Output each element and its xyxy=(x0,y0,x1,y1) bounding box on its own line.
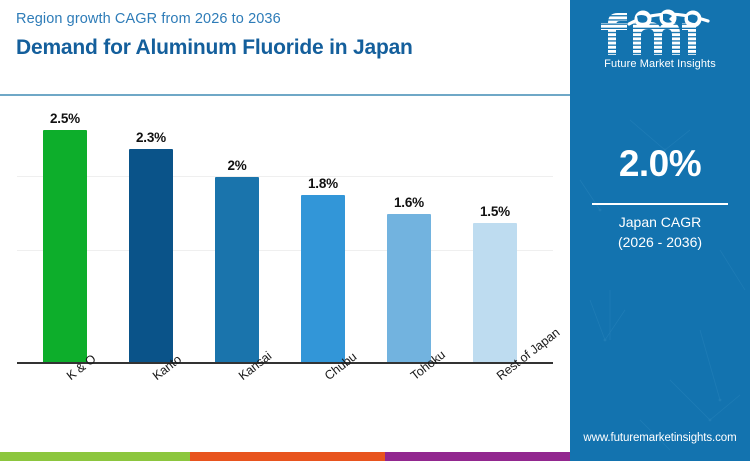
bar-group: 2.5% xyxy=(22,102,108,363)
stat-divider xyxy=(592,203,728,205)
x-axis-label: Kanto xyxy=(108,366,194,446)
bar[interactable] xyxy=(43,130,87,363)
bar[interactable] xyxy=(301,195,345,363)
bar-value-label: 2.3% xyxy=(108,130,194,145)
x-axis-label: Kansai xyxy=(194,366,280,446)
bar-value-label: 1.5% xyxy=(452,204,538,219)
x-axis-label: Rest of Japan xyxy=(452,366,538,446)
chart-subtitle: Region growth CAGR from 2026 to 2036 xyxy=(16,11,281,27)
bar-value-label: 1.6% xyxy=(366,195,452,210)
bar[interactable] xyxy=(215,177,259,363)
bar-value-label: 2% xyxy=(194,158,280,173)
website-url: www.futuremarketinsights.com xyxy=(570,432,750,444)
cagr-label: Japan CAGR xyxy=(570,214,750,230)
infographic-root: Region growth CAGR from 2026 to 2036 Dem… xyxy=(0,0,750,461)
fmi-logo-icon xyxy=(596,8,726,56)
bar-group: 1.8% xyxy=(280,102,366,363)
bar[interactable] xyxy=(387,214,431,363)
color-bar-segment xyxy=(385,452,600,461)
cagr-value: 2.0% xyxy=(570,143,750,185)
x-axis-labels: K & OKantoKansaiChubuTohokuRest of Japan xyxy=(0,366,570,446)
x-axis-label: Chubu xyxy=(280,366,366,446)
logo-tagline: Future Market Insights xyxy=(570,58,750,70)
bar-group: 1.5% xyxy=(452,102,538,363)
cagr-period: (2026 - 2036) xyxy=(570,234,750,250)
fmi-logo: Future Market Insights xyxy=(570,8,750,78)
bar-group: 2% xyxy=(194,102,280,363)
bar[interactable] xyxy=(129,149,173,363)
chart-panel: Region growth CAGR from 2026 to 2036 Dem… xyxy=(0,0,570,461)
bar-value-label: 2.5% xyxy=(22,111,108,126)
color-bar-segment xyxy=(0,452,190,461)
color-bar-segment xyxy=(190,452,385,461)
page-title: Demand for Aluminum Fluoride in Japan xyxy=(16,36,413,60)
bar-group: 2.3% xyxy=(108,102,194,363)
bar-group: 1.6% xyxy=(366,102,452,363)
chart-header: Region growth CAGR from 2026 to 2036 Dem… xyxy=(0,0,570,95)
x-axis-label: Tohoku xyxy=(366,366,452,446)
bar-chart: 2.5%2.3%2%1.8%1.6%1.5% xyxy=(0,96,570,368)
x-axis-label: K & O xyxy=(22,366,108,446)
bottom-color-bar xyxy=(0,452,600,461)
bar[interactable] xyxy=(473,223,517,363)
bar-value-label: 1.8% xyxy=(280,176,366,191)
brand-panel: Future Market Insights 2.0% Japan CAGR (… xyxy=(570,0,750,461)
